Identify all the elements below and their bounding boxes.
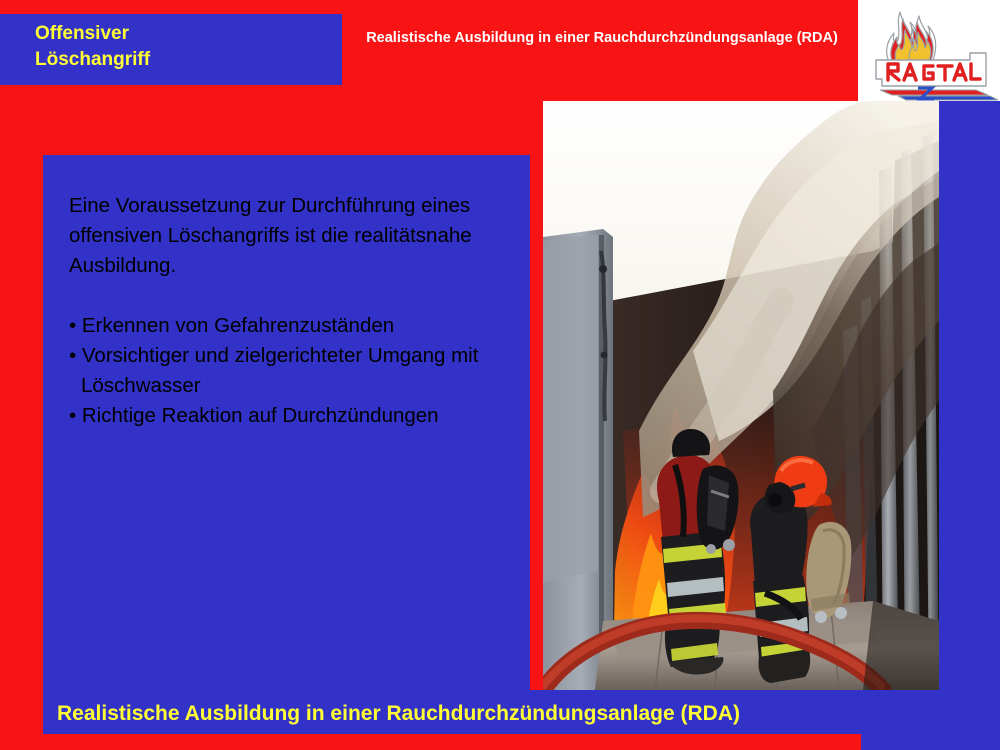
slide-title-label: Offensiver Löschangriff <box>35 21 335 73</box>
training-container-photo <box>543 101 939 690</box>
bullet-item-3: Richtige Reaktion auf Durchzündungen <box>69 401 519 431</box>
bullet-item-1: Erkennen von Gefahrenzuständen <box>69 311 519 341</box>
flame-logo-icon <box>858 0 1000 101</box>
bullet-item-2: Vorsichtiger und zielgerichteter Umgang … <box>69 341 519 401</box>
ragtal-logo <box>858 0 1000 101</box>
slide-background-red-bottom-strip <box>0 734 861 750</box>
photo-illustration <box>543 101 939 690</box>
content-bullet-list: Erkennen von Gefahrenzuständen Vorsichti… <box>69 311 519 431</box>
presentation-slide: Offensiver Löschangriff Realistische Aus… <box>0 0 1000 750</box>
content-paragraph: Eine Voraussetzung zur Durchführung eine… <box>69 191 519 281</box>
header-running-title: Realistische Ausbildung in einer Rauchdu… <box>348 28 856 48</box>
slide-title-box: Offensiver Löschangriff <box>0 14 342 85</box>
slide-background-red-bottom-left-block <box>0 690 43 750</box>
content-panel: Eine Voraussetzung zur Durchführung eine… <box>43 155 530 690</box>
footer-title: Realistische Ausbildung in einer Rauchdu… <box>43 700 937 728</box>
content-panel-inner: Eine Voraussetzung zur Durchführung eine… <box>69 191 519 431</box>
